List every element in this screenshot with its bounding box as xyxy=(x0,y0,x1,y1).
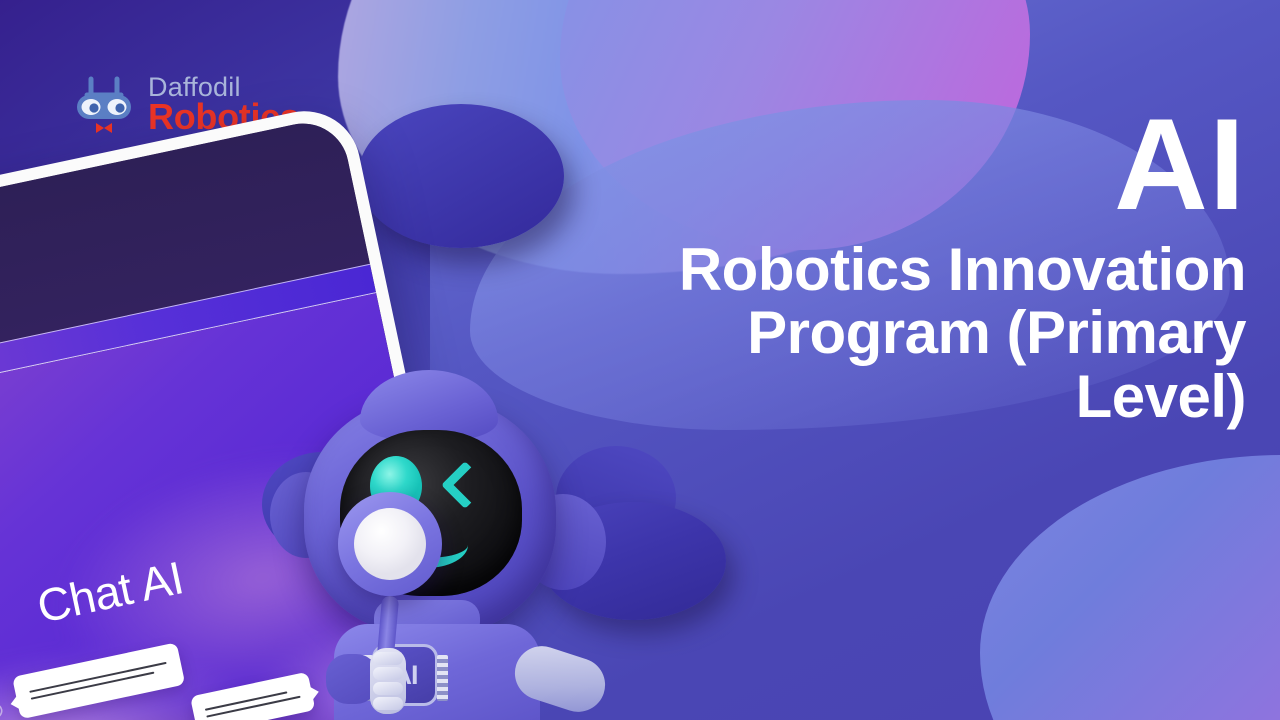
headline-line-3: Level) xyxy=(546,365,1246,429)
magnifying-glass-lens xyxy=(354,508,426,580)
headline-line-1: Robotics Innovation xyxy=(546,238,1246,302)
poster-canvas: Daffodil Robotics Chat AI xyxy=(0,0,1280,720)
mascot-hand xyxy=(370,648,406,714)
mascot-eye-wink xyxy=(441,461,489,509)
decor-ellipse-top xyxy=(358,104,564,248)
headline-ai: AI xyxy=(546,96,1246,234)
robot-head-avatar-icon xyxy=(0,691,7,720)
headline-line-2: Program (Primary xyxy=(546,301,1246,365)
page-title: AI Robotics Innovation Program (Primary … xyxy=(546,96,1246,429)
headline-subtitle: Robotics Innovation Program (Primary Lev… xyxy=(546,238,1246,429)
magnifying-glass-icon xyxy=(338,492,442,596)
robot-head-icon xyxy=(72,75,136,133)
